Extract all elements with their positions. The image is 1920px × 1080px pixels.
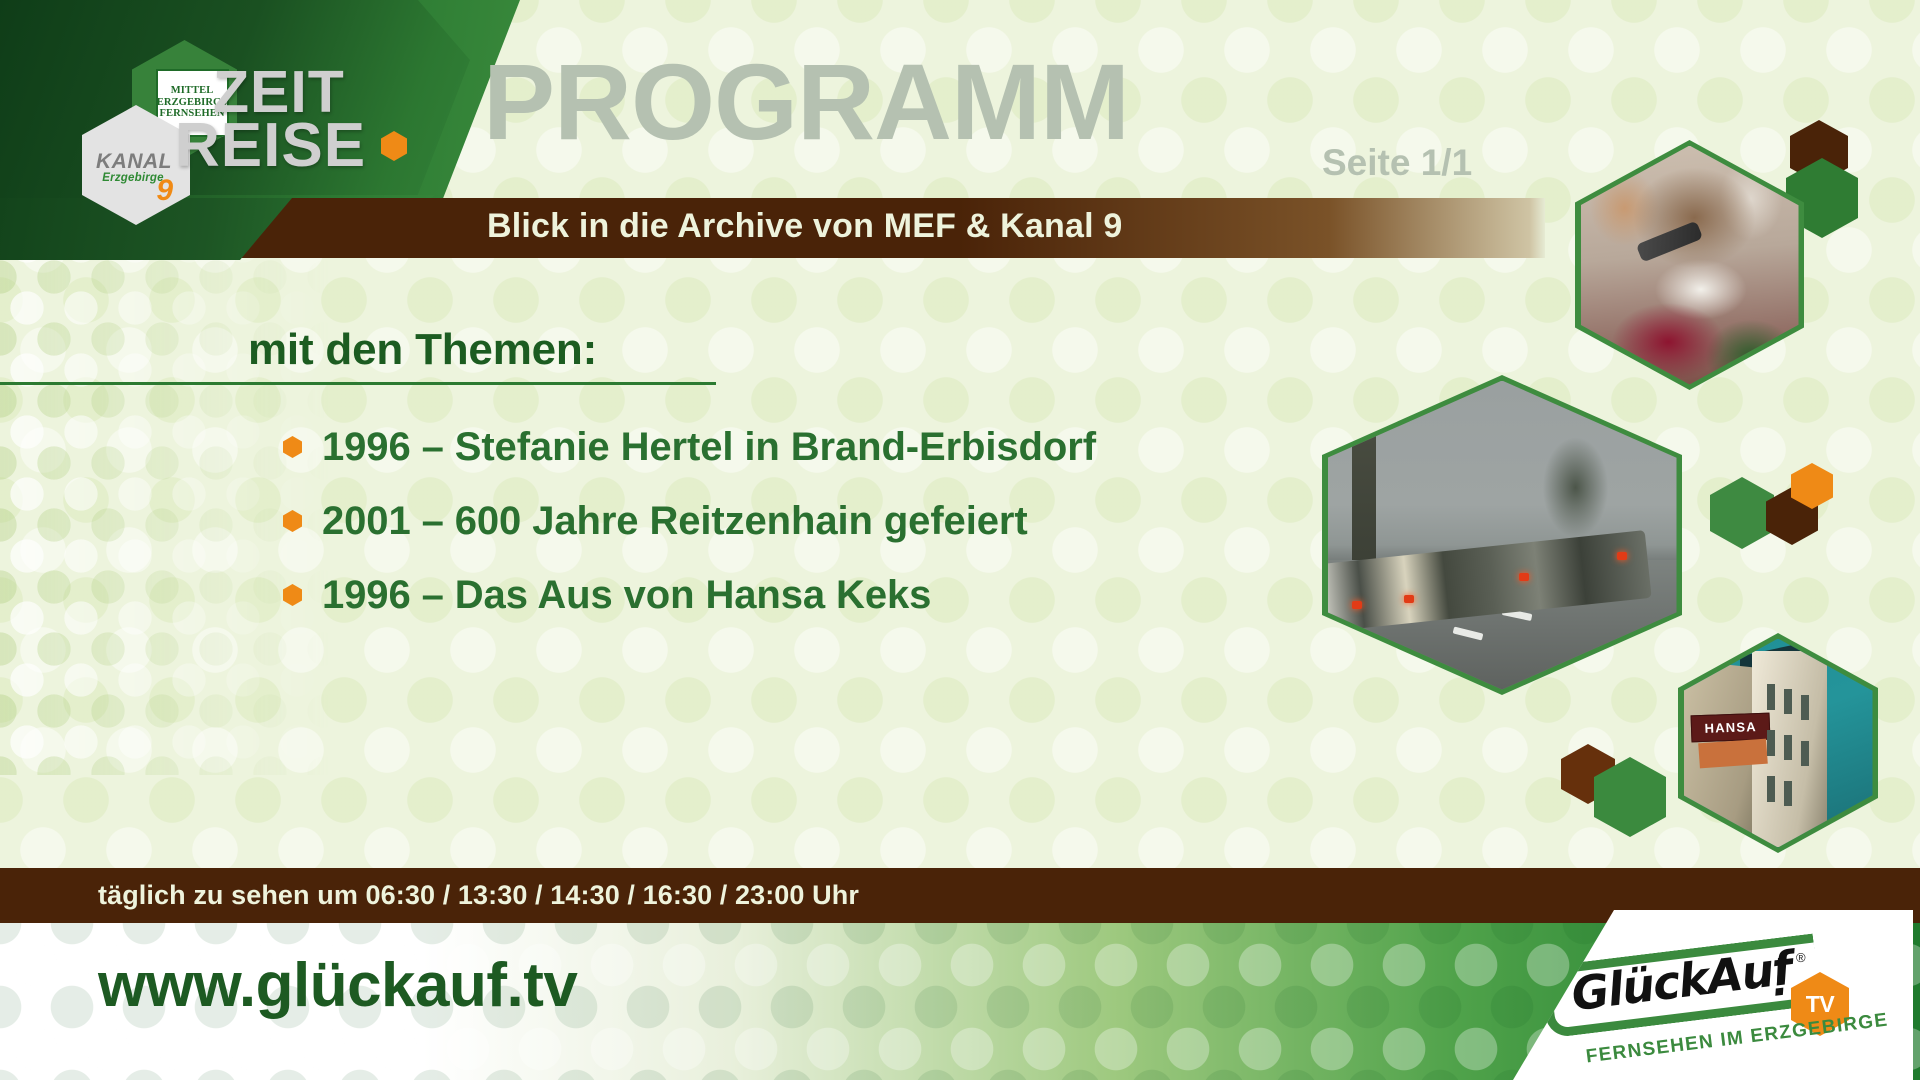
cars-photo-image [1328, 381, 1677, 690]
list-item: 2001 – 600 Jahre Reitzenhain gefeiert [283, 484, 1096, 558]
brake-light [1404, 595, 1414, 603]
list-item: 1996 – Stefanie Hertel in Brand-Erbisdor… [283, 410, 1096, 484]
topics-heading-underline [0, 382, 716, 385]
hansa-sign: HANSA [1691, 712, 1771, 742]
broadcast-times-text: täglich zu sehen um 06:30 / 13:30 / 14:3… [98, 880, 859, 911]
topics-list: 1996 – Stefanie Hertel in Brand-Erbisdor… [283, 410, 1096, 632]
hexagon-bullet-icon [283, 510, 302, 532]
page-indicator: Seite 1/1 [1322, 142, 1472, 184]
brake-light [1519, 573, 1529, 581]
kanal9-region-label: Erzgebirge [102, 172, 163, 184]
tree-left [1352, 381, 1376, 566]
building-window [1784, 689, 1793, 714]
zeitreise-program-slide: MITTEL ERZGEBIRGS FERNSEHEN KANAL Erzgeb… [0, 0, 1920, 1080]
list-item: 1996 – Das Aus von Hansa Keks [283, 558, 1096, 632]
building-window [1801, 741, 1810, 766]
website-url[interactable]: www.glückauf.tv [98, 950, 577, 1021]
hexagon-bullet-icon [283, 584, 302, 606]
building-window [1767, 730, 1776, 755]
kanal9-logo-hexagon-icon: KANAL Erzgebirge 9 [82, 105, 190, 225]
building-window [1767, 776, 1776, 801]
hansa-sign-text: HANSA [1704, 719, 1757, 736]
honeycomb-texture-left [0, 215, 330, 775]
topic-label: 2001 – 600 Jahre Reitzenhain gefeiert [322, 499, 1028, 544]
zeitreise-wordmark-line2: REISE [175, 115, 366, 177]
building-window [1784, 735, 1793, 760]
brake-light [1352, 601, 1362, 609]
singers-photo-image [1581, 146, 1799, 385]
brake-light [1617, 552, 1627, 560]
hansa-logo-mark [1698, 739, 1768, 769]
hansa-photo-image: HANSA [1684, 639, 1873, 848]
topic-label: 1996 – Stefanie Hertel in Brand-Erbisdor… [322, 425, 1096, 470]
hansa-photo: HANSA [1678, 633, 1878, 853]
building-window [1784, 781, 1793, 806]
cars-photo [1322, 375, 1682, 695]
topic-label: 1996 – Das Aus von Hansa Keks [322, 573, 931, 618]
building-window [1801, 695, 1810, 720]
decor-hexagon-mid-green-icon [1710, 477, 1774, 549]
subtitle-text: Blick in die Archive von MEF & Kanal 9 [487, 207, 1123, 246]
hexagon-bullet-icon [283, 436, 302, 458]
registered-trademark-icon: ® [1796, 950, 1806, 965]
building-window [1767, 684, 1776, 709]
topics-heading: mit den Themen: [248, 325, 597, 375]
tv-badge-label: TV [1806, 991, 1834, 1018]
kanal9-number: 9 [156, 176, 173, 206]
mef-line-1: MITTEL [171, 85, 214, 97]
singers-photo [1575, 140, 1804, 390]
page-title: PROGRAMM [483, 48, 1129, 156]
kanal9-wordmark: KANAL [96, 150, 172, 174]
